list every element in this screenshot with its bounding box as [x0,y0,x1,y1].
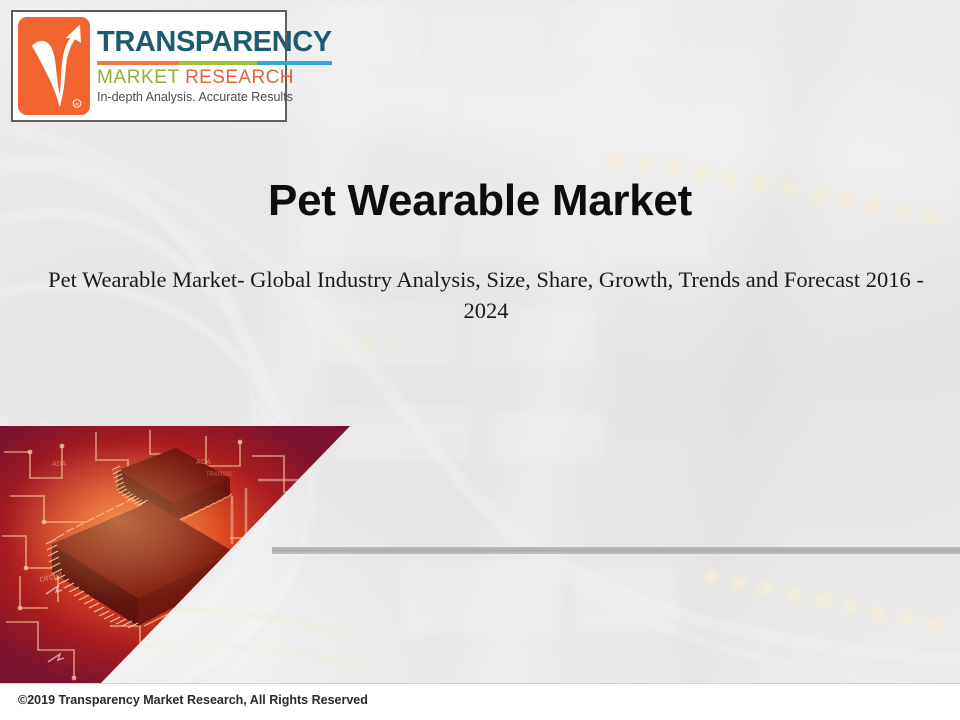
logo-top-word: TRANSPARENCY [97,28,332,57]
footer-bar: ©2019 Transparency Market Research, All … [0,683,960,720]
checkmark-arrow-icon: R [18,17,90,115]
company-logo[interactable]: R TRANSPARENCY MARKET RESEARCH In-depth … [11,10,287,122]
logo-wordmark: TRANSPARENCY MARKET RESEARCH In-depth An… [90,17,332,115]
logo-word-market: MARKET [97,67,180,88]
horizontal-divider [272,547,960,554]
svg-text:R: R [75,102,79,108]
logo-mid-words: MARKET RESEARCH [97,68,332,88]
presentation-slide: R TRANSPARENCY MARKET RESEARCH In-depth … [0,0,960,720]
page-subtitle: Pet Wearable Market- Global Industry Ana… [46,264,926,326]
page-title: Pet Wearable Market [0,176,960,226]
logo-word-research: RESEARCH [185,67,294,88]
logo-tricolor-rule [97,61,332,65]
logo-tagline: In-depth Analysis. Accurate Results [97,90,332,104]
copyright-text: ©2019 Transparency Market Research, All … [18,693,368,707]
